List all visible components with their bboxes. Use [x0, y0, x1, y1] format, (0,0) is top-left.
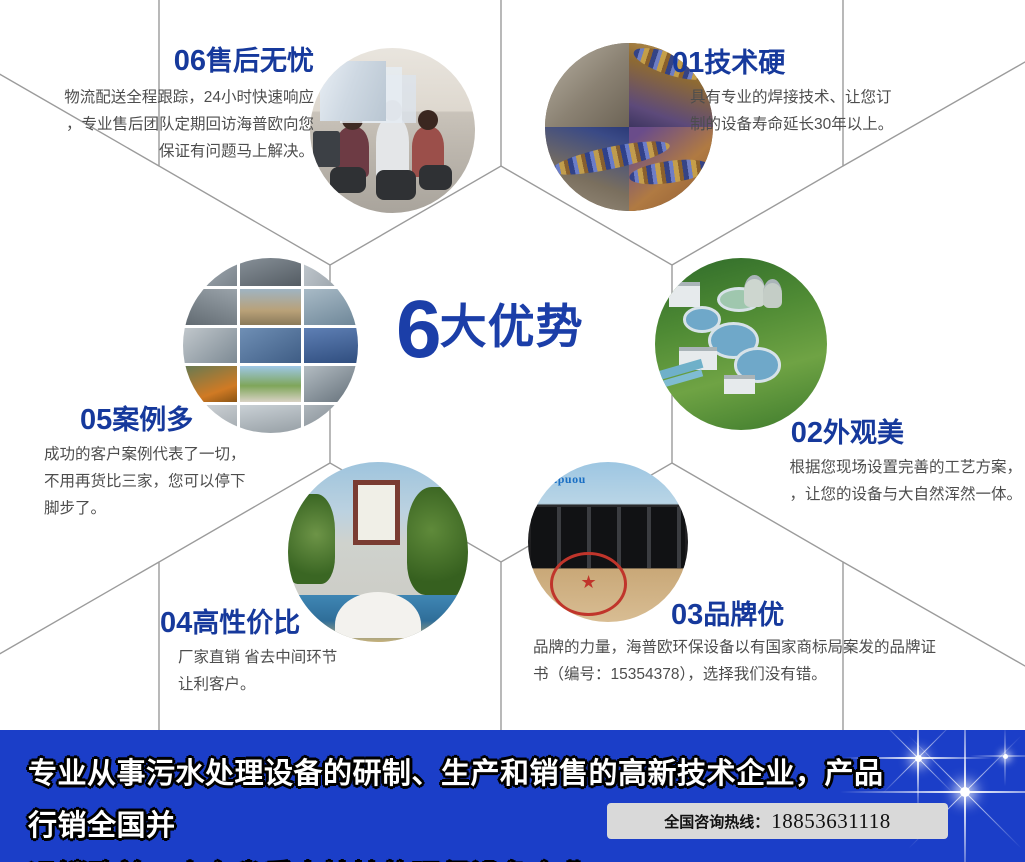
- feature-05-cases: 05案例多 成功的客户案例代表了一切， 不用再货比三家，您可以停下 脚步了。: [44, 405, 384, 522]
- feature-04-desc: 厂家直销 省去中间环节 让利客户。: [178, 644, 490, 698]
- feature-02-title: 02外观美: [650, 418, 1022, 448]
- feature-03-brand: 03品牌优 品牌的力量，海普欧环保设备以有国家商标局案发的品牌证 书（编号：15…: [533, 600, 1013, 688]
- feature-06-aftersales: 06售后无忧 物流配送全程跟踪，24小时快速响应 ，专业售后团队定期回访海普欧向…: [8, 46, 314, 165]
- office-staff-photo: [310, 48, 475, 213]
- feature-05-desc: 成功的客户案例代表了一切， 不用再货比三家，您可以停下 脚步了。: [44, 441, 384, 522]
- feature-02-appearance: 02外观美 根据您现场设置完善的工艺方案， ，让您的设备与大自然浑然一体。: [650, 418, 1022, 508]
- feature-04-value: 04高性价比 厂家直销 省去中间环节 让利客户。: [160, 608, 490, 698]
- center-headline: 6大优势: [396, 288, 584, 371]
- haipuou-logo: Haipuou: [538, 472, 586, 487]
- feature-02-desc: 根据您现场设置完善的工艺方案， ，让您的设备与大自然浑然一体。: [650, 454, 1022, 508]
- feature-01-desc: 具有专业的焊接技术、让您订 制的设备寿命延长30年以上。: [690, 84, 1012, 138]
- center-label: 大优势: [440, 300, 584, 353]
- feature-05-title: 05案例多: [44, 405, 384, 435]
- infographic-root: 6大优势 06售后无忧 物流配送全程跟踪，24小时快速响应 ，专业售后团队定期回…: [0, 0, 1025, 862]
- bottom-banner: 专业从事污水处理设备的研制、生产和销售的高新技术企业，产品行销全国并 远销欧美，…: [0, 730, 1025, 862]
- feature-01-tech: 01技术硬 具有专业的焊接技术、让您订 制的设备寿命延长30年以上。: [672, 48, 1012, 138]
- feature-03-title: 03品牌优: [533, 600, 1013, 630]
- feature-06-desc: 物流配送全程跟踪，24小时快速响应 ，专业售后团队定期回访海普欧向您 保证有问题…: [8, 84, 314, 165]
- feature-06-title: 06售后无忧: [8, 46, 314, 76]
- banner-slogan-line2: 远销欧美，山东省重点扶持的环保设备企业。: [28, 852, 898, 862]
- feature-04-title: 04高性价比: [160, 608, 490, 638]
- feature-01-title: 01技术硬: [672, 48, 1012, 78]
- center-number: 6: [396, 284, 440, 375]
- hotline-pill[interactable]: 全国咨询热线： 18853631118: [607, 803, 948, 839]
- hotline-number: 18853631118: [771, 809, 890, 834]
- feature-03-desc: 品牌的力量，海普欧环保设备以有国家商标局案发的品牌证 书（编号：15354378…: [533, 634, 1013, 688]
- equipment-with-trademark-seal-photo: Haipuou ★: [528, 462, 688, 622]
- aerial-treatment-plant-photo: [655, 258, 827, 430]
- hotline-label: 全国咨询热线：: [664, 811, 769, 832]
